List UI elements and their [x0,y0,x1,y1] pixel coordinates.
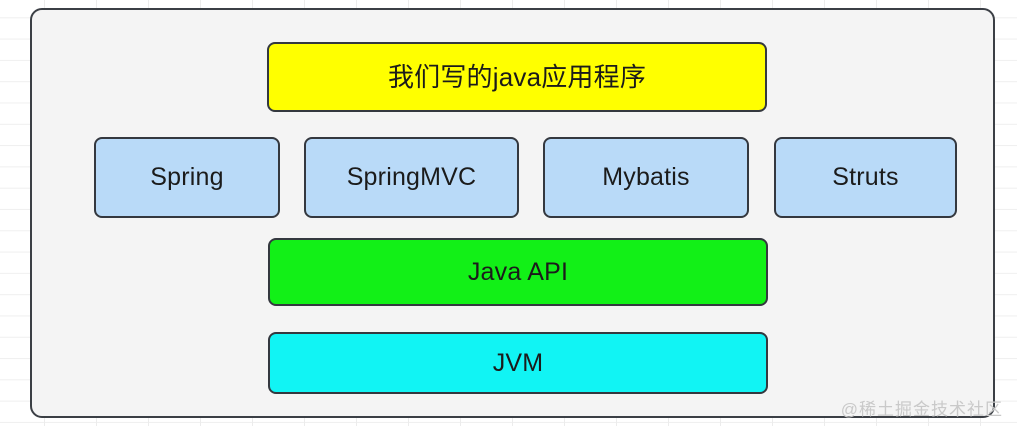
layer-label-mybatis: Mybatis [602,165,690,190]
watermark-text: @稀土掘金技术社区 [841,395,1003,420]
layer-label-application: 我们写的java应用程序 [388,64,646,90]
layer-box-application[interactable]: 我们写的java应用程序 [267,42,767,112]
layer-box-jvm[interactable]: JVM [268,332,768,394]
layer-label-java-api: Java API [468,260,568,285]
diagram-canvas: 我们写的java应用程序 Spring SpringMVC Mybatis St… [0,0,1017,426]
layer-box-springmvc[interactable]: SpringMVC [304,137,519,218]
layer-box-java-api[interactable]: Java API [268,238,768,306]
layer-box-struts[interactable]: Struts [774,137,957,218]
layer-label-spring: Spring [150,165,223,190]
layer-label-struts: Struts [832,165,899,190]
layer-label-springmvc: SpringMVC [347,165,477,190]
layer-label-jvm: JVM [493,351,544,376]
layer-box-spring[interactable]: Spring [94,137,280,218]
stack-container: 我们写的java应用程序 Spring SpringMVC Mybatis St… [30,8,995,418]
layer-box-mybatis[interactable]: Mybatis [543,137,749,218]
